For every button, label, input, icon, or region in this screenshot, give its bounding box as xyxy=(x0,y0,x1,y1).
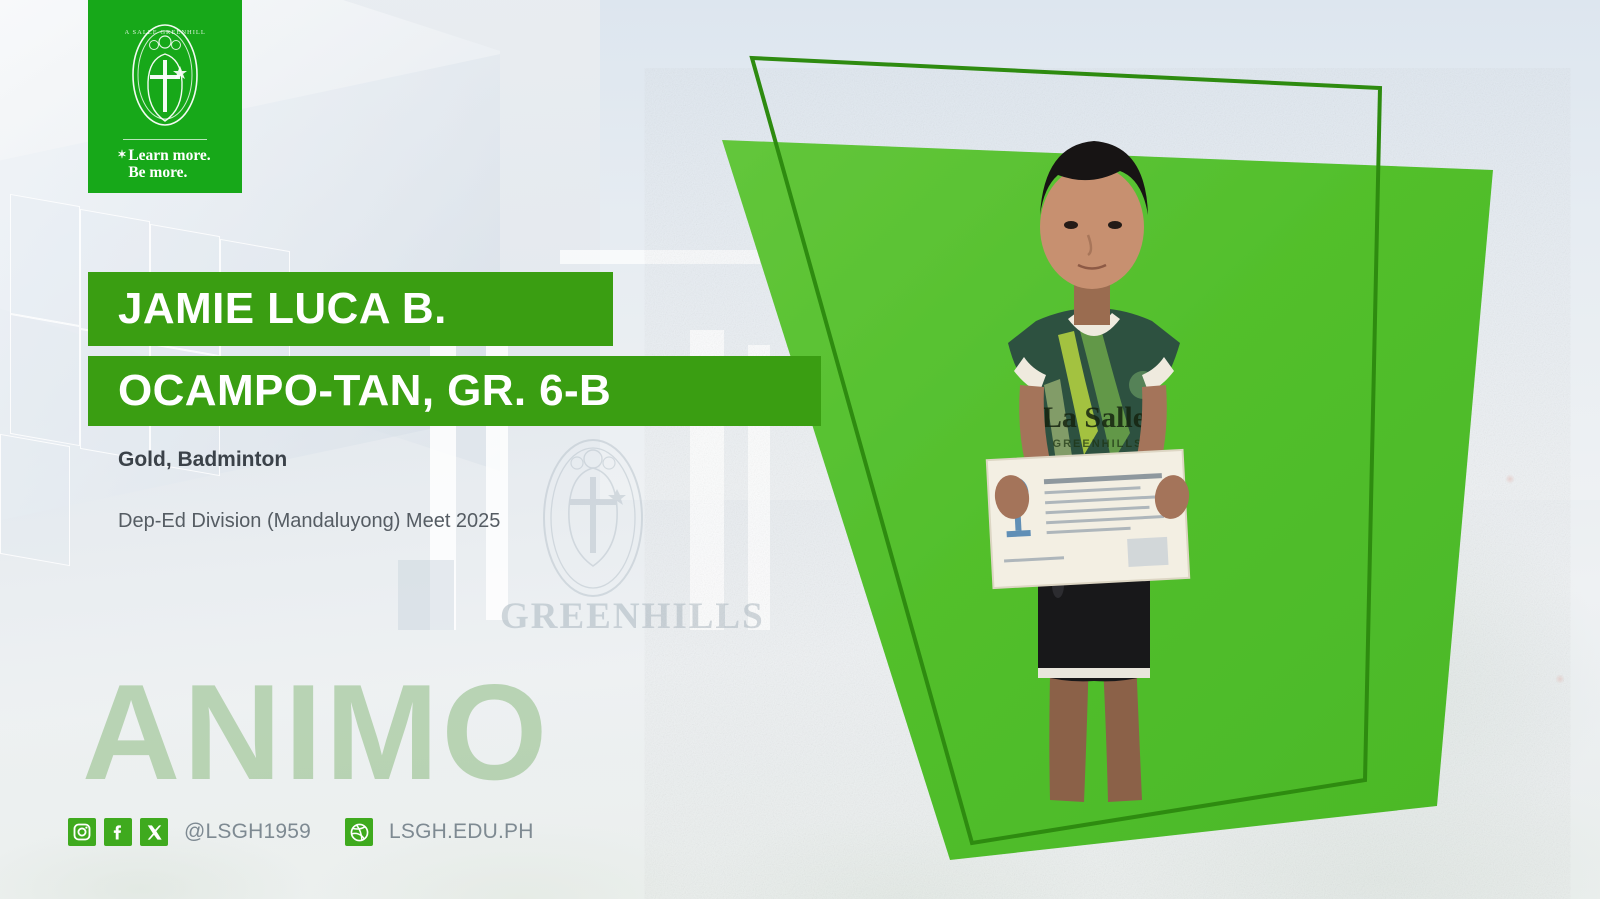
website-url: LSGH.EDU.PH xyxy=(389,820,534,844)
x-twitter-icon[interactable] xyxy=(140,818,168,846)
awardee-name-line2: OCAMPO-TAN, GR. 6-B xyxy=(88,369,611,413)
animo-watermark: ANIMO xyxy=(82,664,550,800)
building-cornice xyxy=(560,250,760,264)
logo-divider xyxy=(123,139,207,140)
lsgh-logo-box: LA SALLE GREENHILLS ✶ Learn more. Be mor… xyxy=(88,0,242,193)
svg-text:La Salle: La Salle xyxy=(1042,401,1146,434)
svg-text:LA SALLE GREENHILLS: LA SALLE GREENHILLS xyxy=(125,29,205,36)
dribbble-globe-icon[interactable] xyxy=(345,818,373,846)
awardee-name-bar-line1: JAMIE LUCA B. xyxy=(88,272,613,346)
lsgh-seal-watermark xyxy=(533,433,653,603)
building-glass-pane xyxy=(0,434,70,566)
logo-tagline-line2: Be more. xyxy=(128,165,210,182)
student-athlete-photo: La Salle GREENHILLS xyxy=(940,85,1230,825)
background-foliage-right xyxy=(1180,379,1600,899)
svg-text:GREENHILLS: GREENHILLS xyxy=(1053,438,1144,450)
instagram-icon[interactable] xyxy=(68,818,96,846)
awardee-name-line1: JAMIE LUCA B. xyxy=(88,287,447,331)
building-window xyxy=(398,560,454,630)
slide-canvas: GREENHILLS xyxy=(0,0,1600,899)
logo-tagline: ✶ Learn more. Be more. xyxy=(119,148,210,181)
social-handle: @LSGH1959 xyxy=(184,820,311,844)
award-event: Dep-Ed Division (Mandaluyong) Meet 2025 xyxy=(118,510,500,533)
footer-social-bar: @LSGH1959 LSGH.EDU.PH xyxy=(68,817,534,847)
certificate-of-recognition xyxy=(987,450,1189,588)
building-glass-pane xyxy=(10,314,80,446)
lsgh-seal-icon: LA SALLE GREENHILLS xyxy=(125,20,205,128)
award-medal-and-sport: Gold, Badminton xyxy=(118,448,287,472)
logo-tagline-line1: Learn more. xyxy=(128,148,210,165)
awardee-name-bar-line2: OCAMPO-TAN, GR. 6-B xyxy=(88,356,821,426)
star-icon: ✶ xyxy=(117,150,126,162)
background-wordmark: GREENHILLS xyxy=(500,595,765,638)
facebook-icon[interactable] xyxy=(104,818,132,846)
building-glass-pane xyxy=(10,194,80,326)
